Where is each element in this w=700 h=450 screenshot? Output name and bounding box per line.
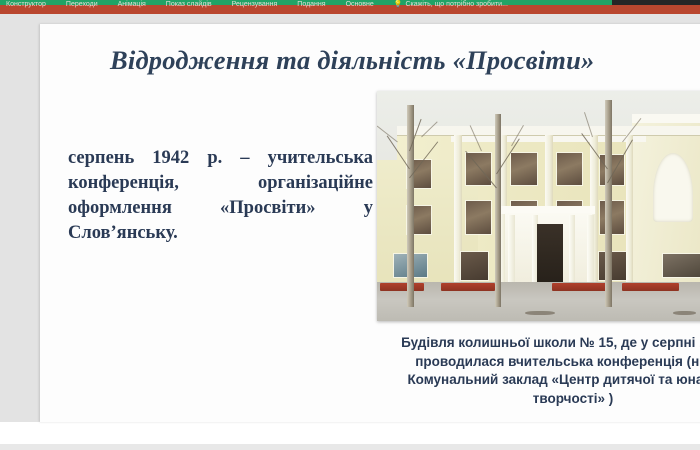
canvas-lower-white-area <box>0 422 700 444</box>
ribbon-tab-animations[interactable]: Анімація <box>118 1 146 9</box>
photo-column <box>587 215 594 286</box>
photo-pilaster <box>626 135 634 287</box>
ribbon-tab-home[interactable]: Основне <box>346 1 374 9</box>
photo-tree-trunk <box>495 114 501 307</box>
photo-window <box>466 201 491 233</box>
photo-ground-debris <box>525 311 555 316</box>
photo-image <box>377 91 700 321</box>
photo-tree-trunk <box>407 105 413 307</box>
tell-me-box[interactable]: 💡Скажіть, що потрібно зробити... <box>394 1 508 9</box>
ribbon-tab-view[interactable]: Подання <box>297 1 325 9</box>
photo-window <box>663 254 700 277</box>
slide-surface[interactable]: Відродження та діяльність «Просвіти» сер… <box>40 24 700 422</box>
photo-ground-debris <box>673 311 697 316</box>
photo-window <box>600 201 624 233</box>
lightbulb-icon: 💡 <box>394 1 403 9</box>
photo-cornice <box>397 126 700 135</box>
photo-flower-bed <box>552 283 609 291</box>
photo-column <box>569 215 576 286</box>
school-building-photo[interactable] <box>377 91 700 321</box>
photo-entrance-door <box>537 224 564 286</box>
photo-column <box>508 215 515 286</box>
ribbon-strip: Конструктор Переходи Анімація Показ слай… <box>0 0 700 14</box>
photo-flower-bed <box>441 283 495 291</box>
photo-caption[interactable]: Будівля колишньої школи № 15, де у серпн… <box>377 334 700 408</box>
photo-window <box>599 252 626 280</box>
ribbon-tab-list: Конструктор Переходи Анімація Показ слай… <box>0 0 700 9</box>
photo-tree-trunk <box>605 100 611 307</box>
tell-me-label: Скажіть, що потрібно зробити... <box>405 1 507 8</box>
ribbon-tab-transitions[interactable]: Переходи <box>66 1 98 9</box>
photo-window <box>461 252 488 280</box>
status-bar-strip <box>0 444 700 450</box>
powerpoint-slide-editor: Конструктор Переходи Анімація Показ слай… <box>0 0 700 450</box>
photo-window <box>511 153 536 185</box>
photo-flower-bed <box>622 283 679 291</box>
ribbon-tab-design[interactable]: Конструктор <box>6 1 46 9</box>
slide-body-text[interactable]: серпень 1942 р. – учительська конференці… <box>68 146 373 271</box>
photo-window <box>557 153 582 185</box>
photo-flower-bed <box>380 283 424 291</box>
ribbon-tab-slideshow[interactable]: Показ слайдів <box>166 1 212 9</box>
ribbon-tab-review[interactable]: Рецензування <box>232 1 278 9</box>
photo-pavilion-cornice <box>632 114 700 123</box>
slide-title[interactable]: Відродження та діяльність «Просвіти» <box>110 45 700 75</box>
